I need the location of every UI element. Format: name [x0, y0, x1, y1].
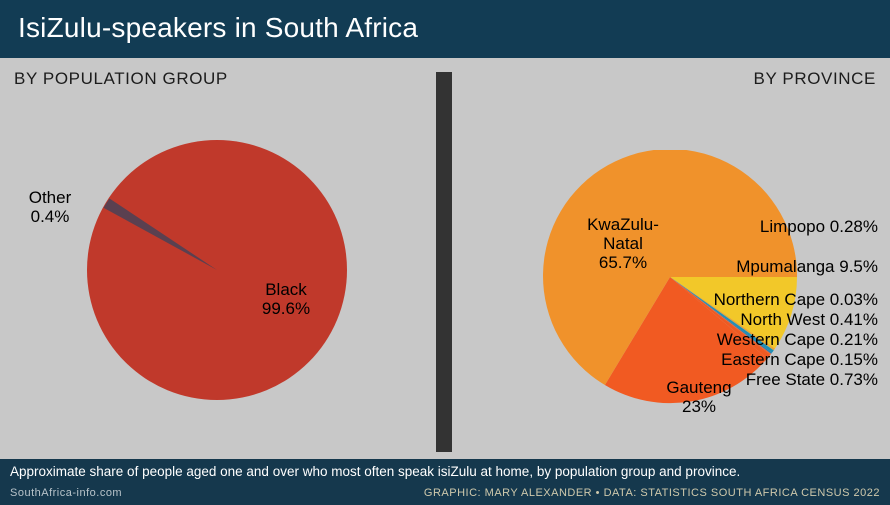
pie-label-northern-cape: Northern Cape 0.03% — [714, 290, 878, 310]
pie-label-gauteng-value: 23% — [640, 397, 758, 416]
pie-label-group-small-provinces: Northern Cape 0.03% North West 0.41% Wes… — [714, 290, 878, 390]
pie-label-black: Black 99.6% — [231, 280, 341, 318]
pie-label-other-name: Other — [14, 188, 86, 207]
pie-label-western-cape: Western Cape 0.21% — [714, 330, 878, 350]
pie-label-other: Other 0.4% — [14, 188, 86, 226]
pie-label-kwazulu-natal: KwaZulu- Natal 65.7% — [558, 215, 688, 272]
pie-label-black-name: Black — [231, 280, 341, 299]
pie-label-north-west: North West 0.41% — [714, 310, 878, 330]
footer-graphic-credit: GRAPHIC: MARY ALEXANDER • DATA: STATISTI… — [424, 487, 880, 499]
pie-label-mpumalanga: Mpumalanga 9.5% — [736, 257, 878, 276]
pie-chart-population-group — [62, 115, 372, 425]
pie-label-other-value: 0.4% — [14, 207, 86, 226]
pie-label-free-state: Free State 0.73% — [714, 370, 878, 390]
pie-label-eastern-cape: Eastern Cape 0.15% — [714, 350, 878, 370]
footer-caption: Approximate share of people aged one and… — [10, 464, 740, 479]
panel-subtitle-province: BY PROVINCE — [754, 69, 877, 89]
panel-divider — [436, 72, 452, 452]
pie-label-black-value: 99.6% — [231, 299, 341, 318]
pie-label-kzn-line1: KwaZulu- — [558, 215, 688, 234]
pie-label-limpopo: Limpopo 0.28% — [760, 217, 878, 236]
page-title: IsiZulu-speakers in South Africa — [18, 12, 418, 44]
infographic-root: IsiZulu-speakers in South Africa BY POPU… — [0, 0, 890, 505]
panel-subtitle-population-group: BY POPULATION GROUP — [14, 69, 228, 89]
footer-site-credit[interactable]: SouthAfrica-info.com — [10, 487, 122, 499]
pie-label-kzn-line2: Natal — [558, 234, 688, 253]
pie-label-kzn-value: 65.7% — [558, 253, 688, 272]
